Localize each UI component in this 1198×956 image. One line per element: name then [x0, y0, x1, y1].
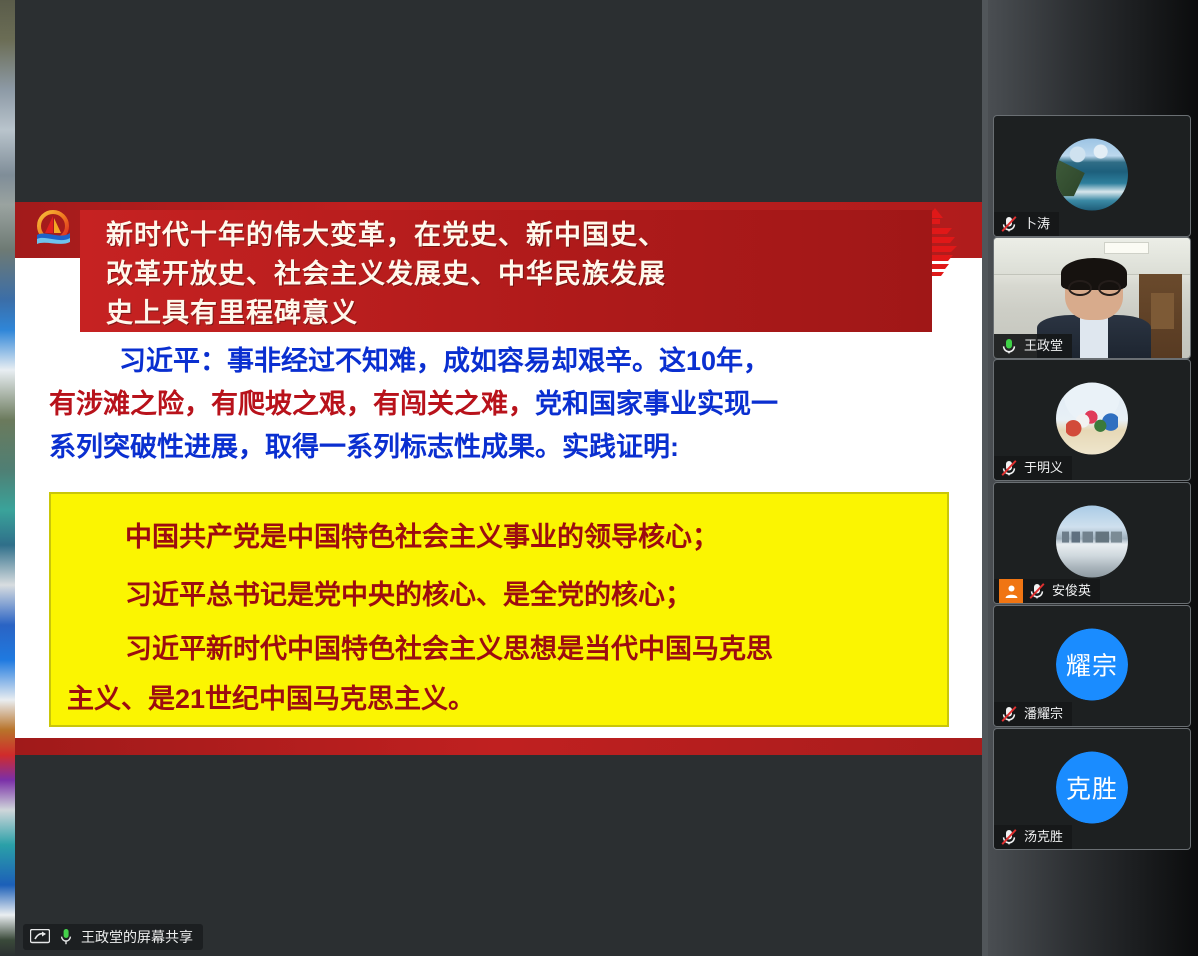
quote-line: 习近平：事非经过不知难，成如容易却艰辛。这10年，: [49, 340, 949, 383]
participant-name-bar: 卜涛: [994, 212, 1059, 236]
slide-quote-paragraph: 习近平：事非经过不知难，成如容易却艰辛。这10年， 有涉滩之险，有爬坡之艰，有闯…: [49, 340, 949, 469]
slide-footer-band: [15, 738, 982, 755]
participant-name-bar: 于明义: [994, 456, 1072, 480]
participant-name: 汤克胜: [1024, 825, 1063, 849]
participant-tile[interactable]: 卜涛: [993, 115, 1191, 237]
presentation-slide: 新时代十年的伟大变革，在党史、新中国史、 改革开放史、社会主义发展史、中华民族发…: [15, 202, 982, 755]
participant-tile[interactable]: 克胜 汤克胜: [993, 728, 1191, 850]
microphone-active-icon: [55, 927, 77, 947]
participant-name: 王政堂: [1024, 334, 1063, 358]
mic-muted-icon: [999, 458, 1019, 478]
participant-tile[interactable]: 安俊英: [993, 482, 1191, 604]
participant-name-bar: 汤克胜: [994, 825, 1072, 849]
participant-name-bar: 潘耀宗: [994, 702, 1072, 726]
slide-highlight-box: 中国共产党是中国特色社会主义事业的领导核心； 习近平总书记是党中央的核心、是全党…: [49, 492, 949, 727]
screen-share-status-bar: 王政堂的屏幕共享: [23, 924, 203, 950]
avatar: [1056, 139, 1128, 211]
quote-line: 系列突破性进展，取得一系列标志性成果。实践证明:: [49, 426, 949, 469]
participant-name: 安俊英: [1052, 579, 1091, 603]
slide-title-line: 新时代十年的伟大变革，在党史、新中国史、: [80, 216, 932, 255]
participant-tile[interactable]: 王政堂: [993, 237, 1191, 359]
highlight-line: 主义、是21世纪中国马克思主义。: [51, 674, 947, 724]
mic-active-icon: [999, 336, 1019, 356]
avatar-initials: 耀宗: [1056, 629, 1128, 701]
mic-muted-icon: [999, 704, 1019, 724]
participant-name: 潘耀宗: [1024, 702, 1063, 726]
avatar-initials: 克胜: [1056, 752, 1128, 824]
avatar: [1056, 506, 1128, 578]
mic-muted-icon: [999, 827, 1019, 847]
panel-divider[interactable]: [982, 0, 988, 956]
highlight-line: 中国共产党是中国特色社会主义事业的领导核心；: [51, 508, 947, 566]
host-badge-icon: [999, 579, 1023, 603]
slide-title-line: 史上具有里程碑意义: [80, 294, 932, 333]
participant-name-bar: 安俊英: [994, 579, 1100, 603]
participant-name: 卜涛: [1024, 212, 1050, 236]
avatar: [1056, 383, 1128, 455]
participant-tile[interactable]: 于明义: [993, 359, 1191, 481]
slide-title-line: 改革开放史、社会主义发展史、中华民族发展: [80, 255, 932, 294]
mic-muted-icon: [1027, 581, 1047, 601]
shared-screen-region[interactable]: 新时代十年的伟大变革，在党史、新中国史、 改革开放史、社会主义发展史、中华民族发…: [15, 0, 982, 956]
screen-share-icon: [29, 927, 51, 947]
participant-video-strip: 卜涛: [988, 0, 1198, 956]
participant-name: 于明义: [1024, 456, 1063, 480]
slide-title-banner: 新时代十年的伟大变革，在党史、新中国史、 改革开放史、社会主义发展史、中华民族发…: [80, 210, 932, 332]
sailboat-emblem-logo: [33, 208, 73, 248]
highlight-line: 习近平总书记是党中央的核心、是全党的核心；: [51, 566, 947, 624]
share-status-text: 王政堂的屏幕共享: [81, 927, 193, 947]
zoom-meeting-window: 新时代十年的伟大变革，在党史、新中国史、 改革开放史、社会主义发展史、中华民族发…: [0, 0, 1198, 956]
participant-name-bar: 王政堂: [994, 334, 1072, 358]
participant-tile[interactable]: 耀宗 潘耀宗: [993, 605, 1191, 727]
avatar: 耀宗: [1056, 629, 1128, 701]
presenter-desktop-sliver: [0, 0, 15, 956]
avatar: 克胜: [1056, 752, 1128, 824]
mic-muted-icon: [999, 214, 1019, 234]
quote-line: 有涉滩之险，有爬坡之艰，有闯关之难，党和国家事业实现一: [49, 383, 949, 426]
highlight-line: 习近平新时代中国特色社会主义思想是当代中国马克思: [51, 624, 947, 674]
